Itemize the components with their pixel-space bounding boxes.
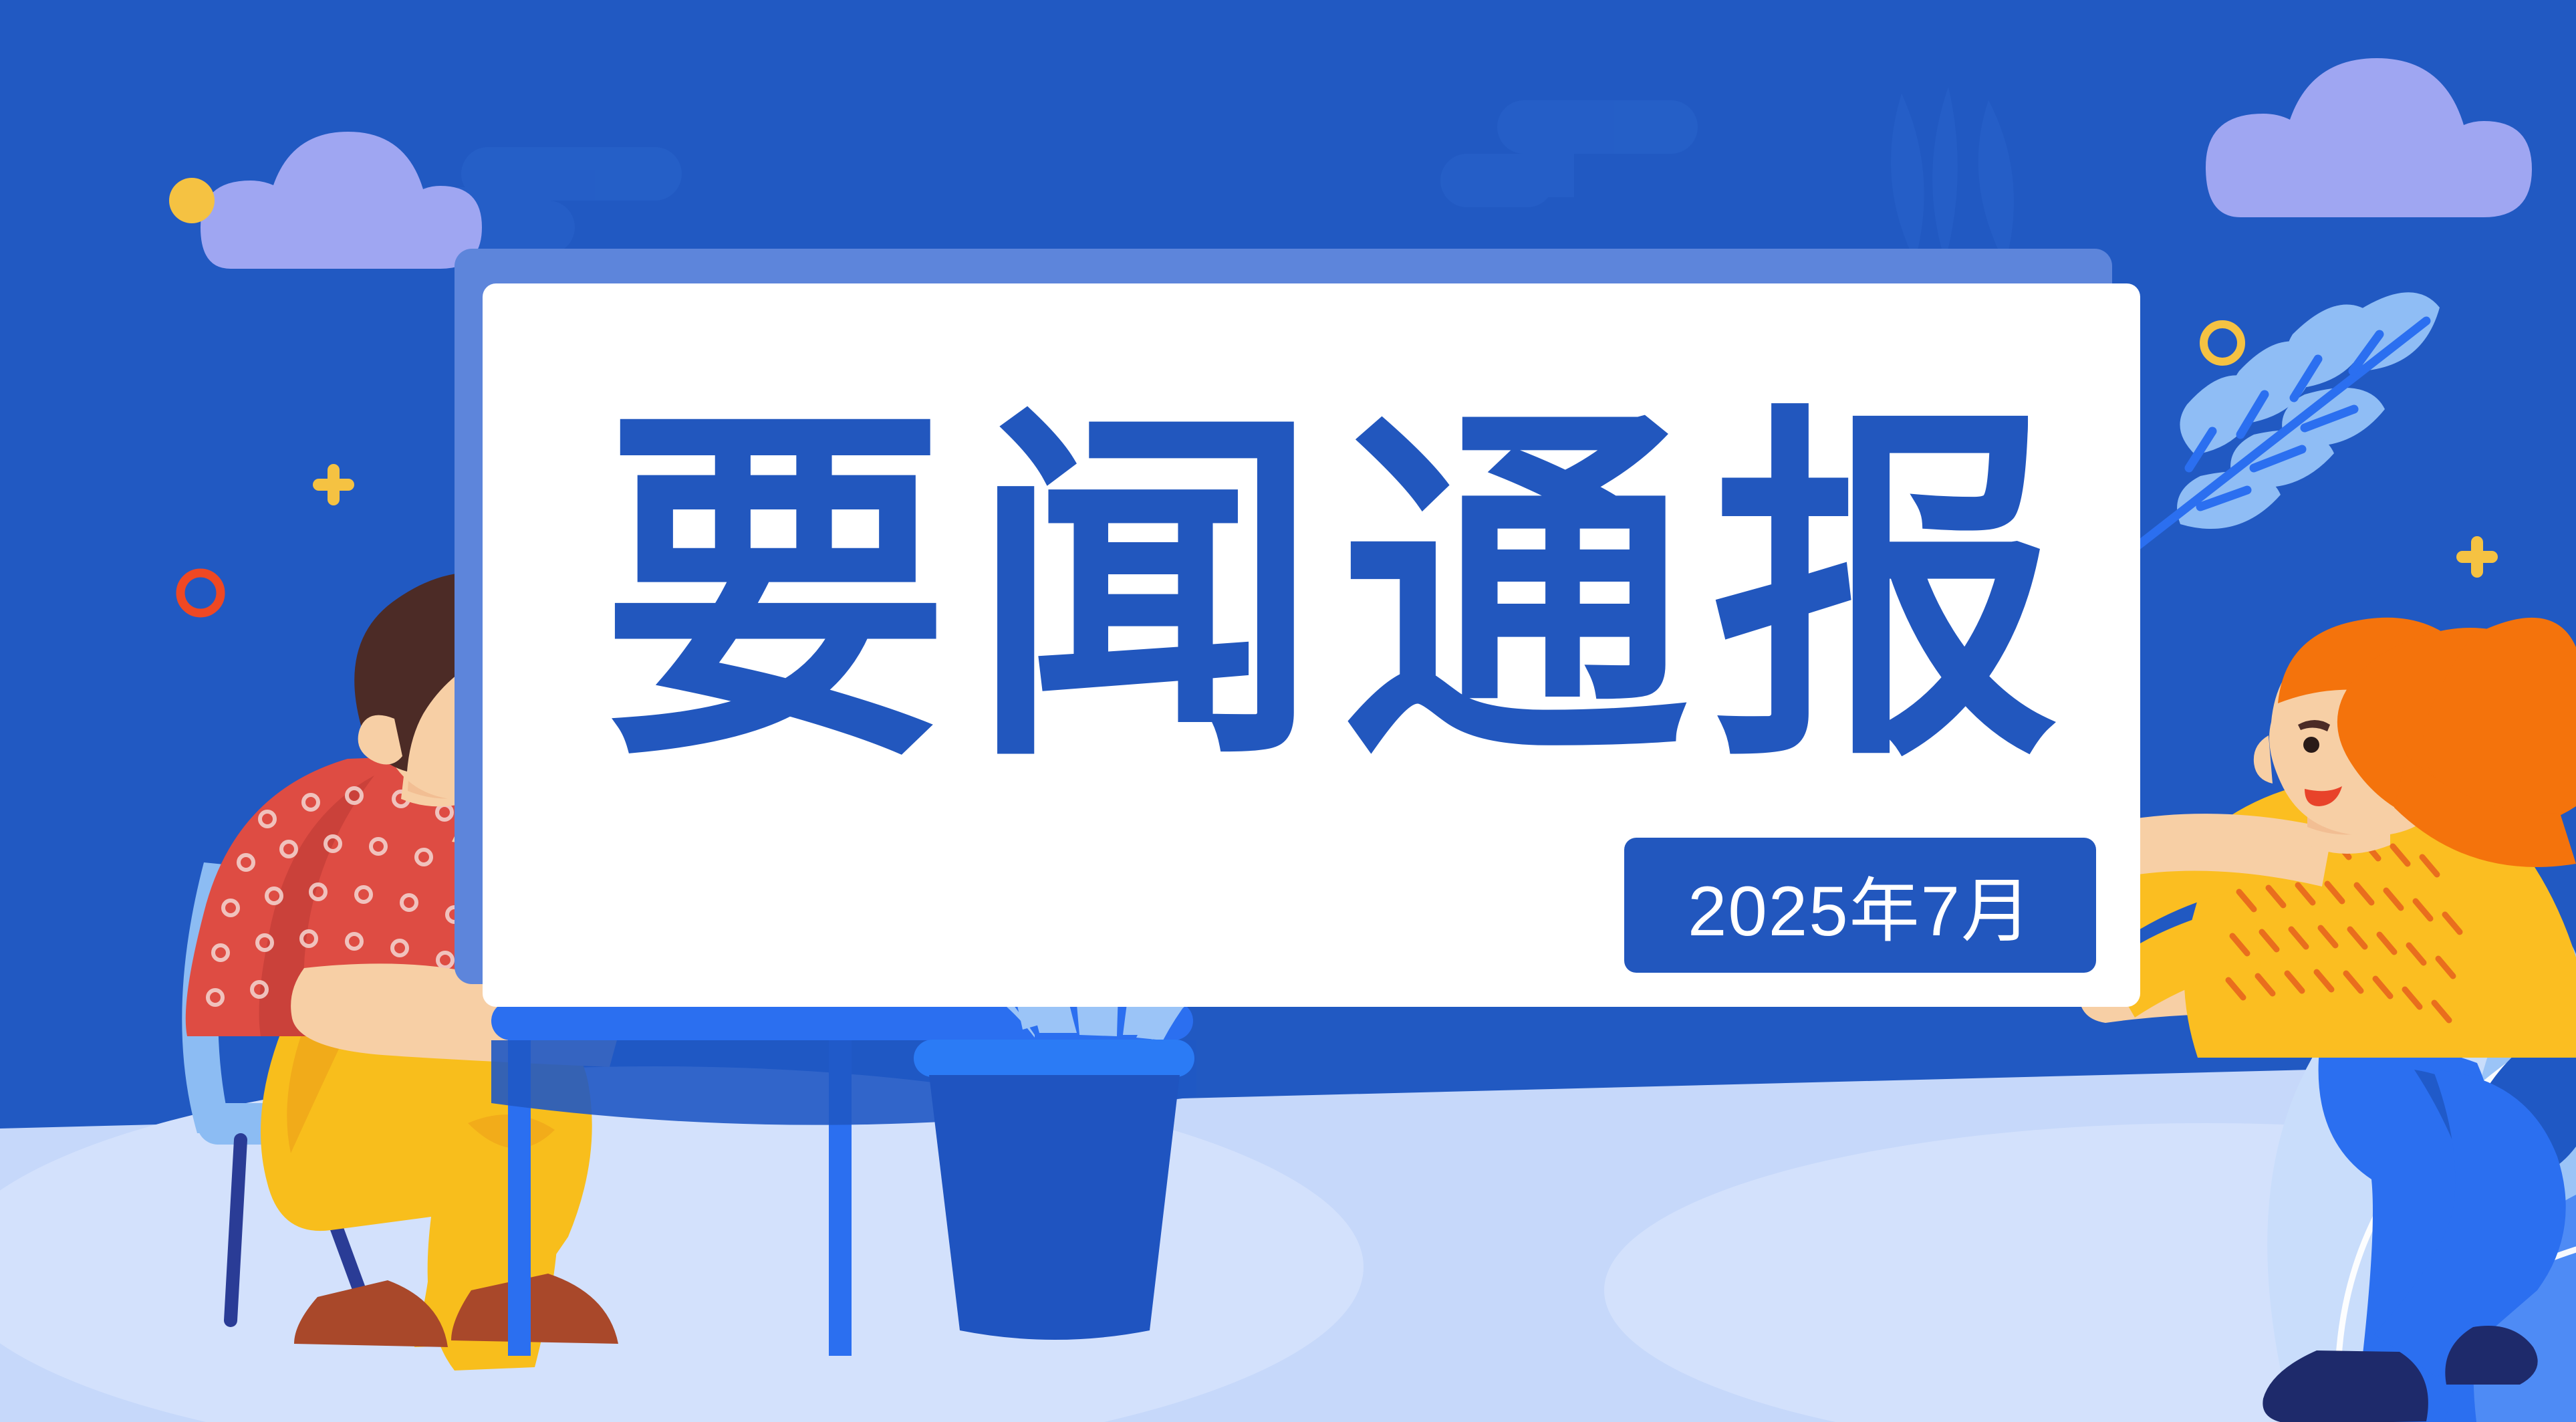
title-char-3: 通 bbox=[1341, 407, 1689, 776]
title-char-2: 闻 bbox=[971, 407, 1319, 776]
title-char-4: 报 bbox=[1711, 407, 2059, 776]
title-char-1: 要 bbox=[602, 407, 949, 776]
yellow-dot-icon bbox=[169, 178, 215, 223]
page-title: 要 闻 通 报 bbox=[602, 384, 2059, 799]
pot-rim bbox=[914, 1040, 1194, 1077]
date-badge: 2025年7月 bbox=[1624, 838, 2096, 973]
news-banner: 要 闻 通 报 2025年7月 bbox=[0, 0, 2576, 1422]
pot-body bbox=[929, 1075, 1180, 1340]
